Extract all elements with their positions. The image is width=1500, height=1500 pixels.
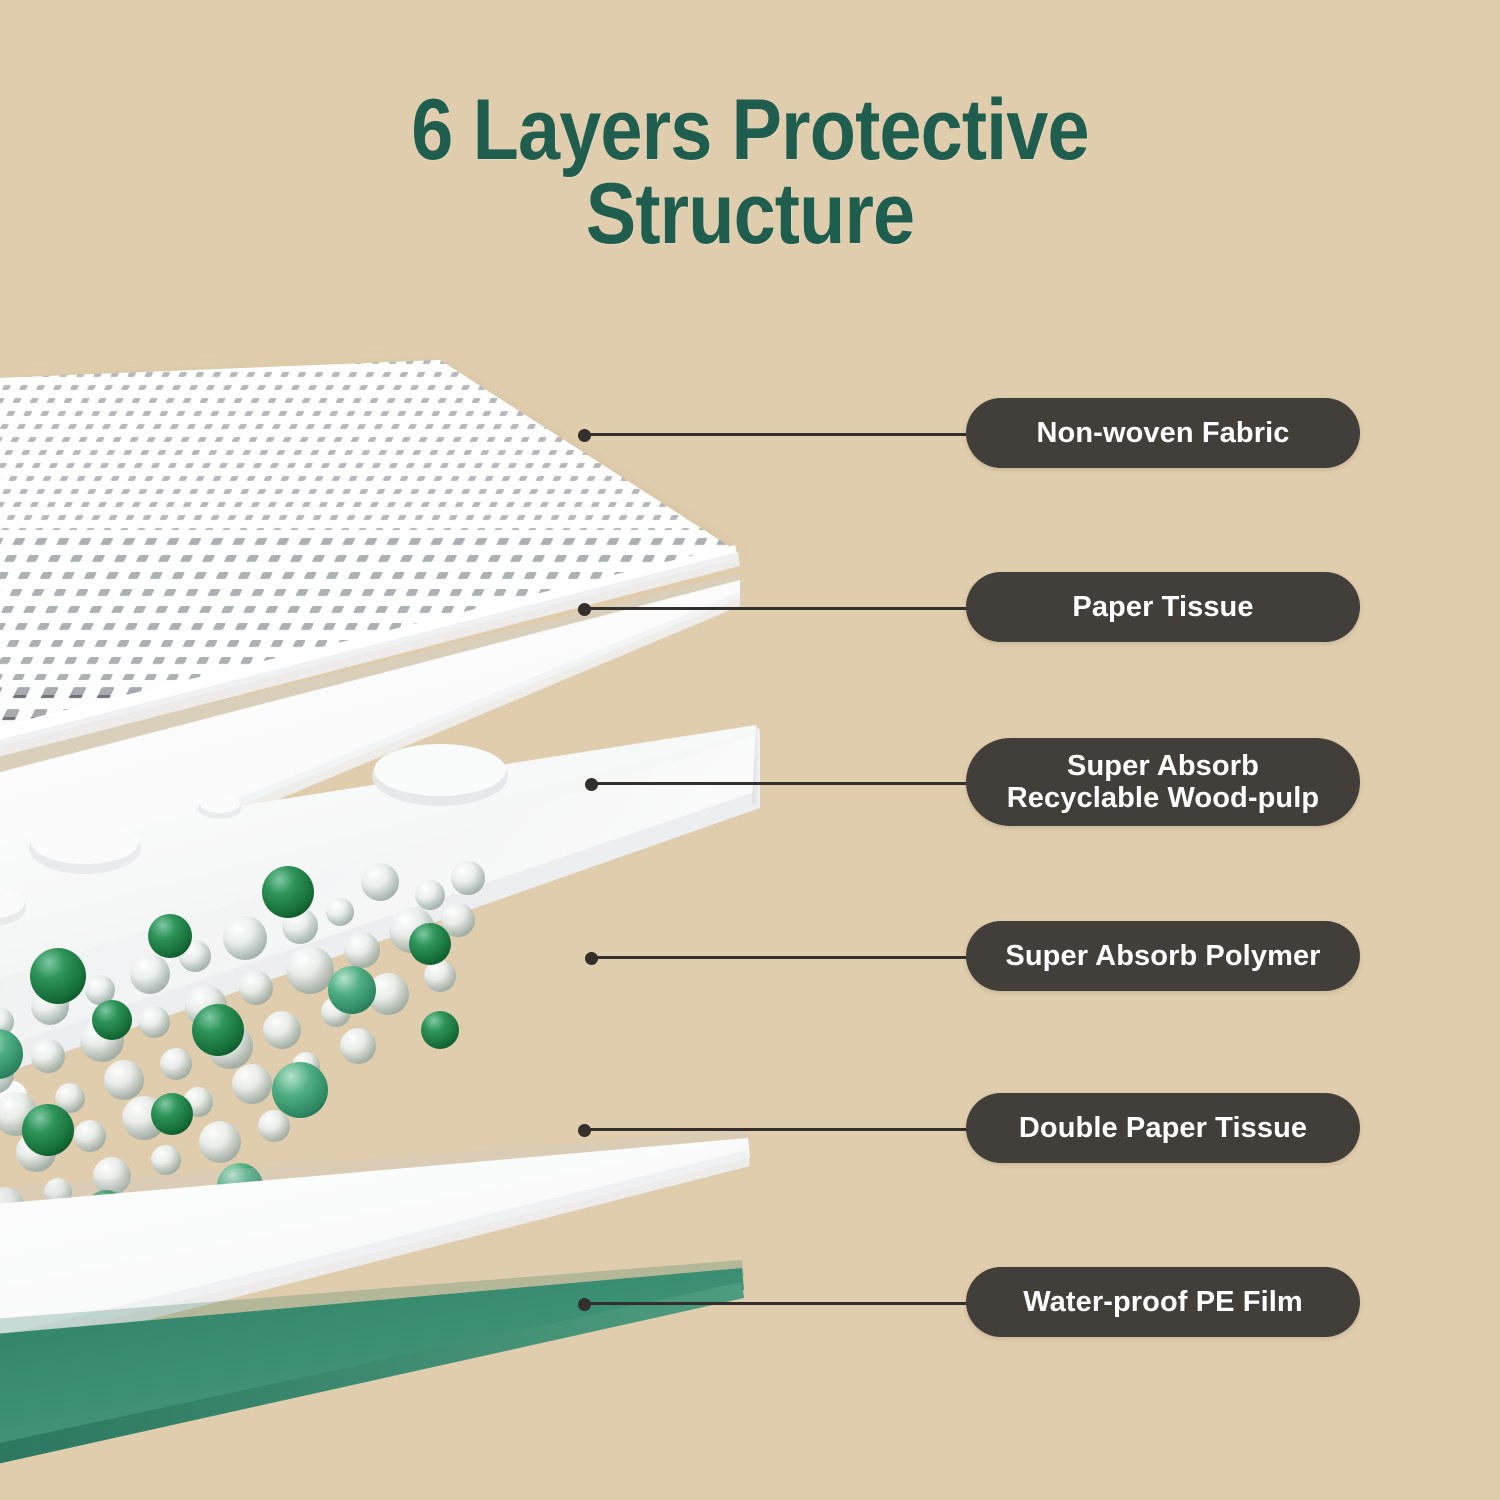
leader-dot-icon: [578, 603, 591, 616]
layer-label-double-paper-tissue[interactable]: Double Paper Tissue: [966, 1093, 1360, 1163]
leader-line-non-woven-fabric: [583, 433, 968, 436]
layer-label-text: Double Paper Tissue: [1019, 1112, 1307, 1144]
layer-label-line-1: Super Absorb: [1007, 750, 1319, 782]
layer-label-polymer[interactable]: Super Absorb Polymer: [966, 921, 1360, 991]
layer-label-non-woven-fabric[interactable]: Non-woven Fabric: [966, 398, 1360, 468]
leader-line-polymer: [590, 956, 968, 959]
page-title-line-1: 6 Layers Protective: [90, 88, 1410, 172]
layer-label-paper-tissue[interactable]: Paper Tissue: [966, 572, 1360, 642]
exploded-layer-diagram: [0, 330, 800, 1500]
layer-label-wood-pulp[interactable]: Super Absorb Recyclable Wood-pulp: [966, 738, 1360, 826]
page-title-line-2: Structure: [90, 172, 1410, 256]
layer-label-text: Super Absorb Polymer: [1005, 940, 1320, 972]
infographic-canvas: 6 Layers Protective Structure: [0, 0, 1500, 1500]
leader-dot-icon: [578, 1298, 591, 1311]
leader-line-pe-film: [583, 1302, 968, 1305]
leader-dot-icon: [585, 778, 598, 791]
leader-dot-icon: [578, 1124, 591, 1137]
layer-label-text: Paper Tissue: [1072, 591, 1253, 623]
leader-line-double-paper-tissue: [583, 1128, 968, 1131]
layer-label-line-2: Recyclable Wood-pulp: [1007, 782, 1319, 814]
leader-line-paper-tissue: [583, 607, 968, 610]
layer-label-text: Water-proof PE Film: [1023, 1286, 1303, 1318]
leader-dot-icon: [578, 429, 591, 442]
page-title: 6 Layers Protective Structure: [90, 88, 1410, 257]
layer-label-pe-film[interactable]: Water-proof PE Film: [966, 1267, 1360, 1337]
leader-dot-icon: [585, 952, 598, 965]
layer-label-text: Non-woven Fabric: [1037, 417, 1290, 449]
leader-line-wood-pulp: [590, 782, 968, 785]
layer-label-text-wrap: Super Absorb Recyclable Wood-pulp: [1007, 750, 1319, 815]
